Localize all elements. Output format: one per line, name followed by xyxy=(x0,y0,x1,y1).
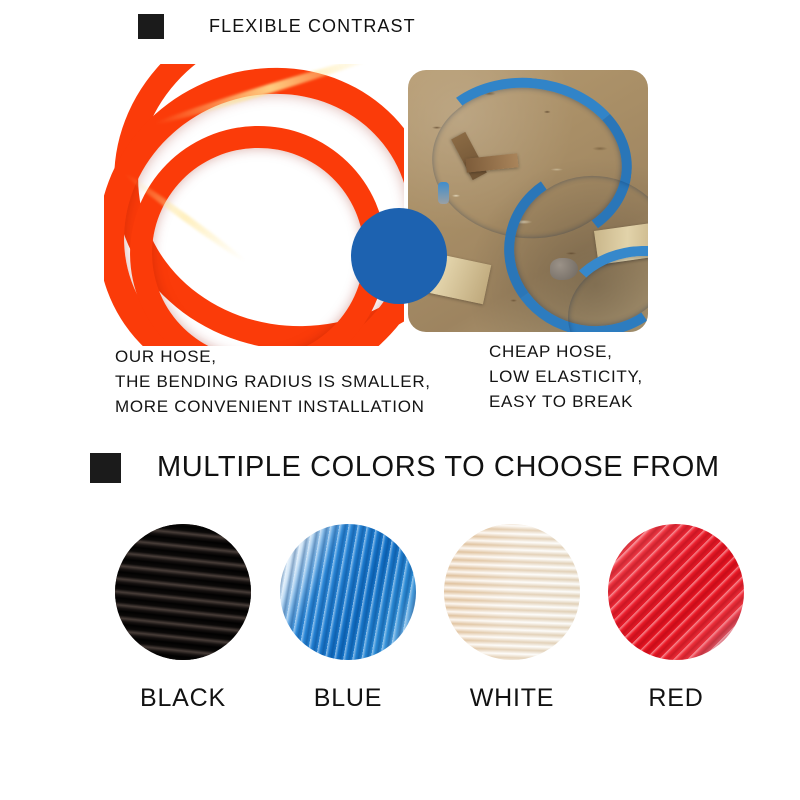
color-label-red: RED xyxy=(596,684,756,713)
section-heading-flexible-contrast: FLEXIBLE CONTRAST xyxy=(138,14,416,39)
color-swatch-row: BLACK BLUE WHITE RED xyxy=(0,524,800,754)
hose-rib-texture xyxy=(280,524,416,660)
color-label-blue: BLUE xyxy=(268,684,428,713)
hose-end-fitting-icon xyxy=(438,182,449,204)
caption-cheap-hose: CHEAP HOSE, LOW ELASTICITY, EASY TO BREA… xyxy=(489,339,643,414)
product-infographic-page: FLEXIBLE CONTRAST OUR HOSE, THE B xyxy=(0,0,800,800)
color-option-blue[interactable]: BLUE xyxy=(268,524,428,713)
color-label-white: WHITE xyxy=(432,684,592,713)
hose-rib-texture xyxy=(115,524,251,660)
section-title-flexible-contrast: FLEXIBLE CONTRAST xyxy=(209,16,416,37)
color-option-black[interactable]: BLACK xyxy=(103,524,263,713)
black-square-icon xyxy=(138,14,164,39)
black-hose-coil-swatch[interactable] xyxy=(115,524,251,660)
color-option-white[interactable]: WHITE xyxy=(432,524,592,713)
hose-rib-texture xyxy=(608,524,744,660)
orange-hose-tight-bend-photo xyxy=(104,64,404,346)
blue-circle-badge xyxy=(351,208,447,304)
caption-our-hose: OUR HOSE, THE BENDING RADIUS IS SMALLER,… xyxy=(115,344,431,419)
comparison-area xyxy=(0,56,800,346)
color-label-black: BLACK xyxy=(103,684,263,713)
section-title-multiple-colors: MULTIPLE COLORS TO CHOOSE FROM xyxy=(157,451,720,484)
blue-hose-on-dirt-ground-photo xyxy=(408,70,648,332)
section-heading-multiple-colors: MULTIPLE COLORS TO CHOOSE FROM xyxy=(90,451,720,484)
color-option-red[interactable]: RED xyxy=(596,524,756,713)
black-square-icon xyxy=(90,453,121,483)
hose-rib-texture xyxy=(444,524,580,660)
blue-hose-coil-swatch[interactable] xyxy=(280,524,416,660)
white-hose-coil-swatch[interactable] xyxy=(444,524,580,660)
red-hose-coil-swatch[interactable] xyxy=(608,524,744,660)
